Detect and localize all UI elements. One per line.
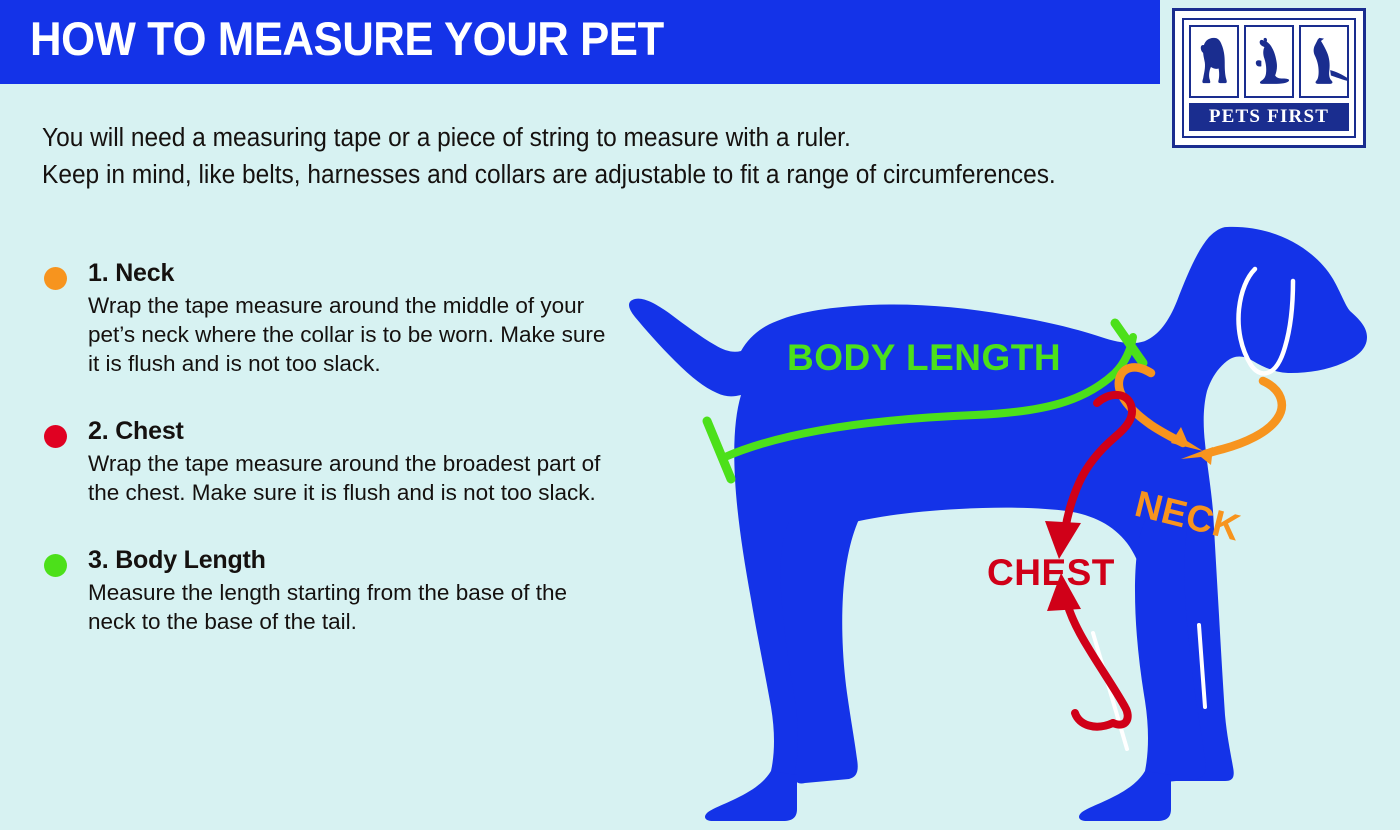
bullet-dot-orange-icon [44, 267, 67, 290]
bullet-dot-red-icon [44, 425, 67, 448]
dog-measurement-diagram: BODY LENGTH NECK CHEST [615, 215, 1395, 825]
dog-silhouette-icon [629, 227, 1367, 821]
intro-line-1: You will need a measuring tape or a piec… [42, 120, 1127, 157]
intro-line-2: Keep in mind, like belts, harnesses and … [42, 157, 1127, 194]
logo-dog-row [1189, 25, 1349, 98]
intro-text: You will need a measuring tape or a piec… [42, 120, 1127, 194]
step-item-neck: 1. Neck Wrap the tape measure around the… [40, 258, 640, 378]
label-body-length: BODY LENGTH [787, 337, 1061, 378]
measurement-steps-list: 1. Neck Wrap the tape measure around the… [40, 258, 640, 668]
logo-frame: PETS FIRST [1182, 18, 1356, 138]
alert-dog-silhouette-icon [1299, 25, 1349, 98]
step-item-body-length: 3. Body Length Measure the length starti… [40, 545, 640, 636]
label-chest: CHEST [987, 552, 1115, 593]
body-length-tick-start [707, 421, 731, 479]
step-title-body-length: 3. Body Length [88, 545, 640, 575]
bullet-dot-green-icon [44, 554, 67, 577]
infographic-page: HOW TO MEASURE YOUR PET [0, 0, 1400, 830]
step-body-neck: Wrap the tape measure around the middle … [88, 291, 618, 378]
step-item-chest: 2. Chest Wrap the tape measure around th… [40, 416, 640, 507]
step-title-chest: 2. Chest [88, 416, 640, 446]
logo-wordmark: PETS FIRST [1189, 103, 1349, 131]
howling-dog-silhouette-icon [1244, 25, 1294, 98]
sitting-dog-silhouette-icon [1189, 25, 1239, 98]
pets-first-logo: PETS FIRST [1172, 8, 1366, 148]
step-body-body-length: Measure the length starting from the bas… [88, 578, 618, 636]
page-title: HOW TO MEASURE YOUR PET [30, 11, 664, 66]
step-title-neck: 1. Neck [88, 258, 640, 288]
step-body-chest: Wrap the tape measure around the broades… [88, 449, 618, 507]
